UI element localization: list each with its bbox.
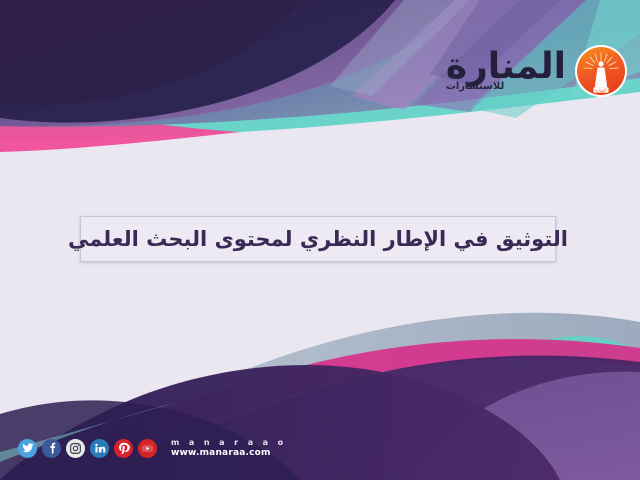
facebook-icon[interactable] <box>42 439 61 458</box>
twitter-icon[interactable] <box>18 439 37 458</box>
emblem-arabic-text: المنارة <box>595 88 606 93</box>
brand-url: www.manaraa.com <box>171 448 287 458</box>
slide-title: التوثيق في الإطار النظري لمحتوى البحث ال… <box>68 227 568 251</box>
footer-brand-text: m a n a r a a o www.manaraa.com <box>171 438 287 458</box>
slide-title-box: التوثيق في الإطار النظري لمحتوى البحث ال… <box>80 216 556 262</box>
youtube-icon[interactable] <box>138 439 157 458</box>
brand-logo: المنارة المنارة للاستشارات <box>446 44 628 98</box>
lighthouse-emblem-icon: المنارة <box>574 44 628 98</box>
slide-canvas: المنارة المنارة للاستشارات التوثيق في ال… <box>0 0 640 480</box>
instagram-icon[interactable] <box>66 439 85 458</box>
brand-letters: m a n a r a a o <box>171 438 287 447</box>
linkedin-icon[interactable] <box>90 439 109 458</box>
logo-wordmark: المنارة <box>446 49 566 85</box>
footer-bar: m a n a r a a o www.manaraa.com <box>18 438 287 458</box>
pinterest-icon[interactable] <box>114 439 133 458</box>
logo-subtitle: للاستشارات <box>446 82 504 92</box>
